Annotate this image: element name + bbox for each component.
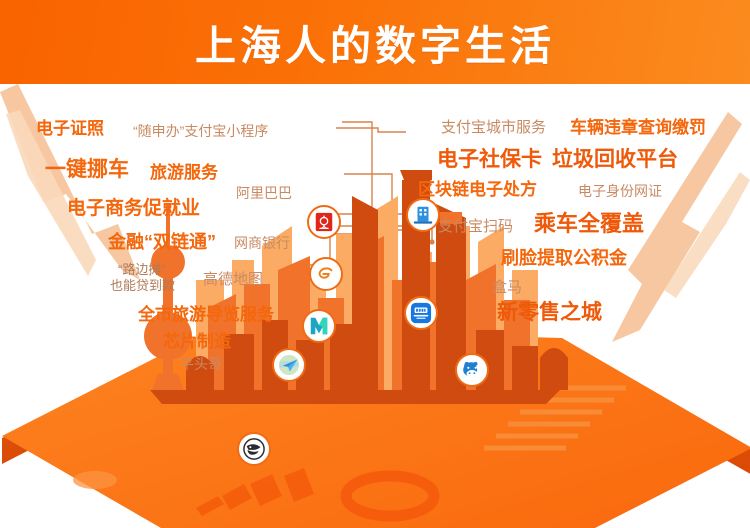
label-item: 电子社保卡	[437, 149, 542, 170]
label-item: 电子身份网证	[578, 184, 662, 198]
label-item: 盒马	[492, 280, 522, 295]
label-item: “路边摊”	[118, 263, 166, 276]
label-item: 阿里巴巴	[236, 186, 292, 200]
badge-alipay-city[interactable]	[406, 198, 440, 232]
scan-icon	[410, 302, 432, 324]
label-item: 也能贷到款	[110, 279, 175, 292]
label-item: 乘车全覆盖	[534, 213, 644, 235]
badge-pingtouge[interactable]	[237, 432, 271, 466]
building-icon	[412, 204, 434, 226]
label-item: 芯片制造	[163, 333, 231, 350]
label-item: 垃圾回收平台	[552, 149, 678, 170]
badge-alibaba[interactable]	[309, 257, 343, 291]
label-item: “随申办”支付宝小程序	[133, 124, 268, 138]
label-item: 网商银行	[234, 236, 290, 250]
amap-icon	[278, 354, 300, 376]
badge-mybank[interactable]	[302, 309, 336, 343]
badge-hema[interactable]	[455, 353, 489, 387]
badge-suishenban[interactable]	[307, 205, 341, 239]
page-title: 上海人的数字生活	[0, 0, 750, 84]
label-item: 全市旅游导览服务	[138, 306, 274, 323]
jinmao-tower	[352, 196, 378, 390]
badge-alipay-scan[interactable]	[404, 296, 438, 330]
label-item: 车辆违章查询缴罚	[570, 119, 706, 136]
label-item: 区块链电子处方	[418, 181, 537, 198]
label-item: 高德地图	[203, 272, 263, 287]
suishenban-icon	[313, 211, 335, 233]
mybank-icon	[308, 315, 330, 337]
label-item: 新零售之城	[497, 302, 602, 323]
label-item: 电子证照	[36, 120, 104, 137]
badger-icon	[243, 438, 265, 460]
infographic-poster: 上海人的数字生活	[0, 0, 750, 528]
alibaba-icon	[315, 263, 337, 285]
label-item: 旅游服务	[150, 164, 218, 181]
label-item: 金融“双链通”	[108, 233, 216, 251]
phone-earpiece	[73, 471, 117, 489]
label-item: 电子商务促就业	[67, 199, 200, 218]
page-header: 上海人的数字生活	[0, 0, 750, 84]
skyline-base	[150, 390, 560, 404]
label-item: 刷脸提取公积金	[501, 249, 627, 267]
label-item: 支付宝城市服务	[441, 120, 546, 135]
label-item: 一键挪车	[45, 159, 129, 180]
badge-amap[interactable]	[272, 348, 306, 382]
label-item: 支付宝扫码	[438, 219, 513, 234]
hippo-icon	[461, 359, 483, 381]
label-item: 平头哥	[180, 357, 222, 371]
